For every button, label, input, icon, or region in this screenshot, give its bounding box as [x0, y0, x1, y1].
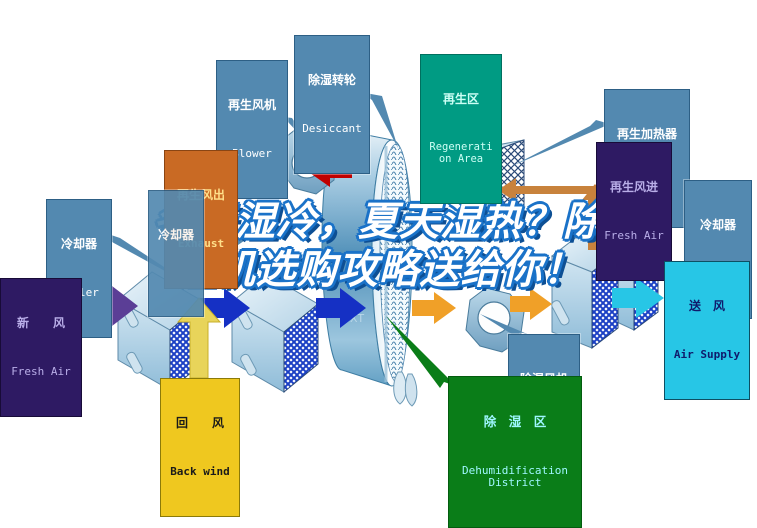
label-regeneration-heater-cn: 再生加热器: [610, 128, 684, 141]
label-dehumidification-district-cn: 除 湿 区: [454, 415, 576, 429]
label-regeneration-fresh-air-in-cn: 再生风进: [602, 181, 666, 194]
label-fresh-air-in[interactable]: 新 风 Fresh Air: [0, 278, 82, 417]
label-back-wind-en: Back wind: [166, 466, 234, 478]
label-cooler-left-inner[interactable]: 冷却器: [148, 190, 204, 317]
label-cooler-left-inner-cn: 冷却器: [154, 229, 198, 242]
label-fresh-air-in-cn: 新 风: [6, 317, 76, 330]
label-air-supply-en: Air Supply: [670, 349, 744, 361]
label-regeneration-area-en: Regenerati on Area: [426, 142, 496, 166]
diagram-canvas: XT: [0, 0, 757, 488]
label-cooler-right-cn: 冷却器: [690, 219, 746, 232]
label-regeneration-fresh-air-in[interactable]: 再生风进 Fresh Air: [596, 142, 672, 281]
rotor-to-blower-arrow: [412, 292, 456, 324]
cooler-unit-left-inner: [232, 274, 318, 392]
label-cooler-left-outer-cn: 冷却器: [52, 238, 106, 251]
label-back-wind-cn: 回 风: [166, 417, 234, 430]
label-air-supply-cn: 送 风: [670, 300, 744, 313]
label-desiccant-rotor-en: Desiccant: [300, 123, 364, 135]
label-back-wind[interactable]: 回 风 Back wind: [160, 378, 240, 517]
label-desiccant-rotor[interactable]: 除湿转轮 Desiccant: [294, 35, 370, 174]
label-air-supply[interactable]: 送 风 Air Supply: [664, 261, 750, 400]
label-desiccant-rotor-cn: 除湿转轮: [300, 74, 364, 87]
label-dehumidification-district-en: Dehumidification District: [454, 465, 576, 490]
label-regeneration-blower-cn: 再生风机: [222, 99, 282, 112]
label-regeneration-area-cn: 再生区: [426, 93, 496, 106]
label-regeneration-fresh-air-in-en: Fresh Air: [602, 230, 666, 242]
label-fresh-air-in-en: Fresh Air: [6, 366, 76, 378]
label-regeneration-area[interactable]: 再生区 Regenerati on Area: [420, 54, 502, 204]
label-dehumidification-district[interactable]: 除 湿 区 Dehumidification District: [448, 376, 582, 528]
